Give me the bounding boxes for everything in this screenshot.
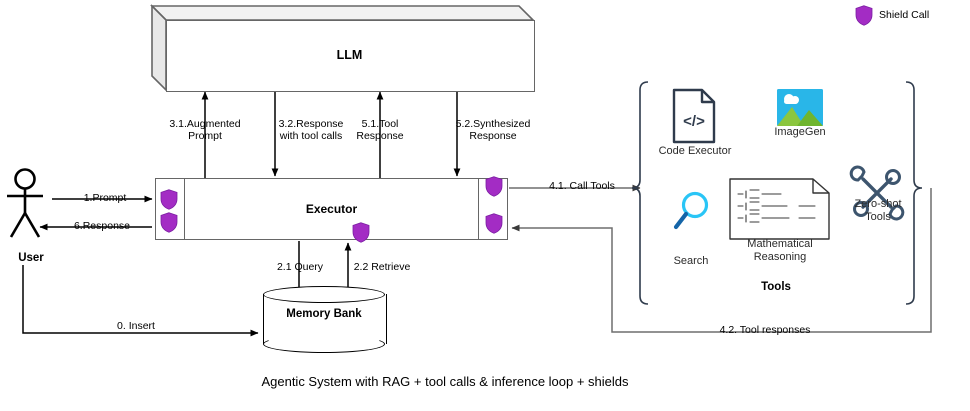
shield-icon bbox=[485, 176, 503, 197]
llm-node[interactable]: LLM bbox=[152, 6, 533, 90]
magnifier-icon[interactable] bbox=[672, 191, 710, 233]
shield-icon bbox=[485, 213, 503, 234]
flow-label-2-2-retrieve: 2.2 Retrieve bbox=[334, 261, 430, 273]
shield-icon bbox=[352, 222, 370, 243]
tools-bracket-right bbox=[906, 82, 922, 304]
cylinder-top bbox=[263, 286, 385, 303]
user-label: User bbox=[0, 252, 62, 266]
flow-label-4-1-call-tools: 4.1. Call Tools bbox=[530, 180, 634, 192]
flow-label-6-response: 6.Response bbox=[50, 220, 154, 232]
cylinder-bottom bbox=[263, 335, 385, 353]
tool-label-zero-shot-tools: Zero-shot Tools bbox=[840, 198, 916, 224]
memory-bank-node[interactable]: Memory Bank bbox=[263, 286, 385, 352]
flow-label-5-1: 5.1.Tool Response bbox=[334, 118, 426, 143]
tool-label-search: Search bbox=[658, 255, 724, 268]
tools-bracket-left bbox=[632, 82, 648, 304]
tool-label-code-executor: Code Executor bbox=[645, 145, 745, 158]
image-gen-icon[interactable] bbox=[777, 89, 823, 126]
tool-label-mathematical-reasoning: Mathematical Reasoning bbox=[724, 238, 836, 264]
tools-group-label: Tools bbox=[716, 281, 836, 295]
shield-icon bbox=[160, 189, 178, 210]
flow-label-0-insert: 0. Insert bbox=[66, 320, 206, 332]
flow-label-1-prompt: 1.Prompt bbox=[58, 192, 152, 204]
svg-text:</>: </> bbox=[683, 113, 705, 130]
flow-label-5-2: 5.2.Synthesized Response bbox=[422, 118, 564, 143]
shield-icon bbox=[160, 212, 178, 233]
executor-label: Executor bbox=[156, 179, 507, 239]
shield-icon bbox=[855, 5, 873, 26]
legend: Shield Call bbox=[855, 4, 967, 26]
legend-label: Shield Call bbox=[879, 9, 929, 21]
diagram-caption: Agentic System with RAG + tool calls & i… bbox=[0, 374, 890, 389]
flow-label-2-1-query: 2.1 Query bbox=[256, 261, 344, 273]
flow-label-4-2-tool-responses: 4.2. Tool responses bbox=[658, 324, 872, 336]
executor-node[interactable]: Executor bbox=[155, 178, 508, 240]
code-document-icon[interactable]: </> bbox=[672, 88, 716, 144]
memory-bank-label: Memory Bank bbox=[263, 308, 385, 320]
tool-label-imagegen: ImageGen bbox=[760, 126, 840, 139]
diagram-canvas: LLM Executor Memory Bank User 3.1.Augmen… bbox=[0, 0, 970, 411]
math-document-icon[interactable] bbox=[729, 178, 830, 240]
llm-label: LLM bbox=[166, 20, 533, 90]
